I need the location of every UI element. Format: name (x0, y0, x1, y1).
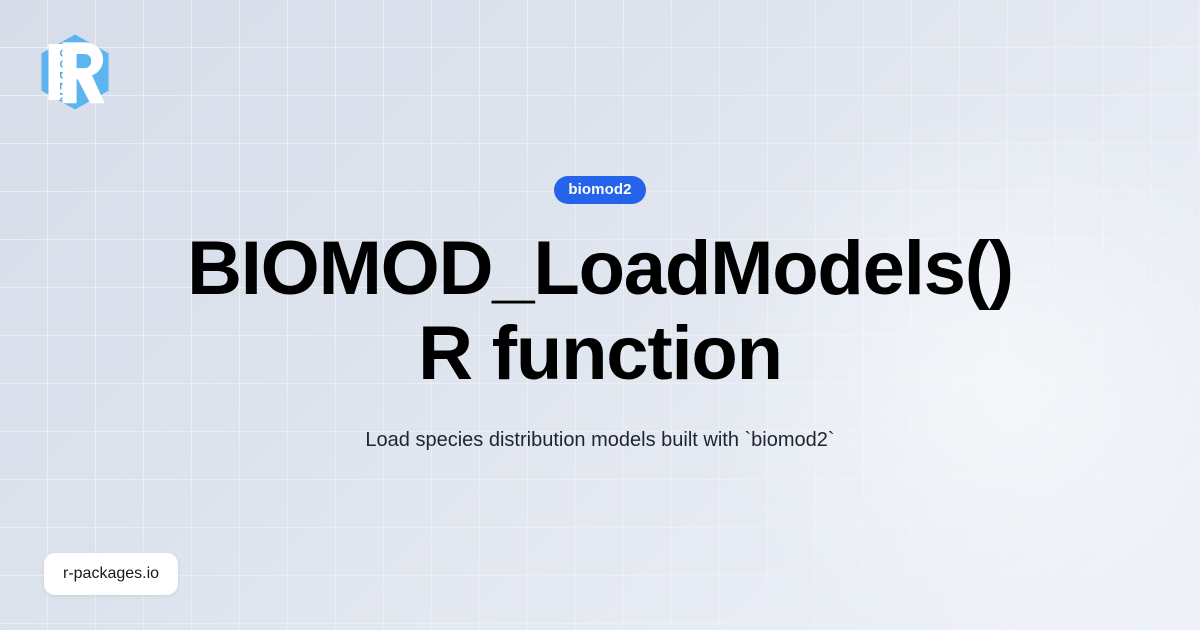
site-domain-pill[interactable]: r-packages.io (44, 553, 178, 595)
package-badge[interactable]: biomod2 (554, 176, 645, 204)
og-card: C O D E R biomod2 BIOMOD_LoadModels() R … (0, 0, 1200, 630)
page-title: BIOMOD_LoadModels() R function (185, 226, 1015, 396)
page-subtitle: Load species distribution models built w… (365, 426, 834, 454)
hero-content: biomod2 BIOMOD_LoadModels() R function L… (0, 0, 1200, 630)
